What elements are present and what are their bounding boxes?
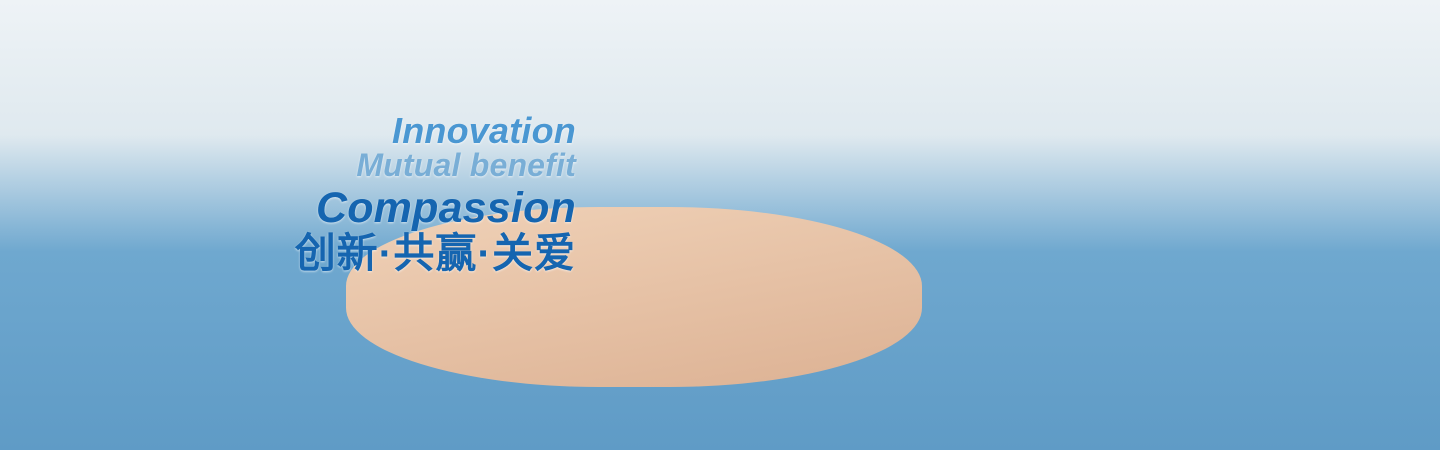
cropped-photo-image (0, 0, 74, 74)
cropped-photo-circle-bottom (0, 0, 74, 74)
hero-banner: O 3 OH Innovation Mutual benefit Compass… (0, 0, 1440, 450)
